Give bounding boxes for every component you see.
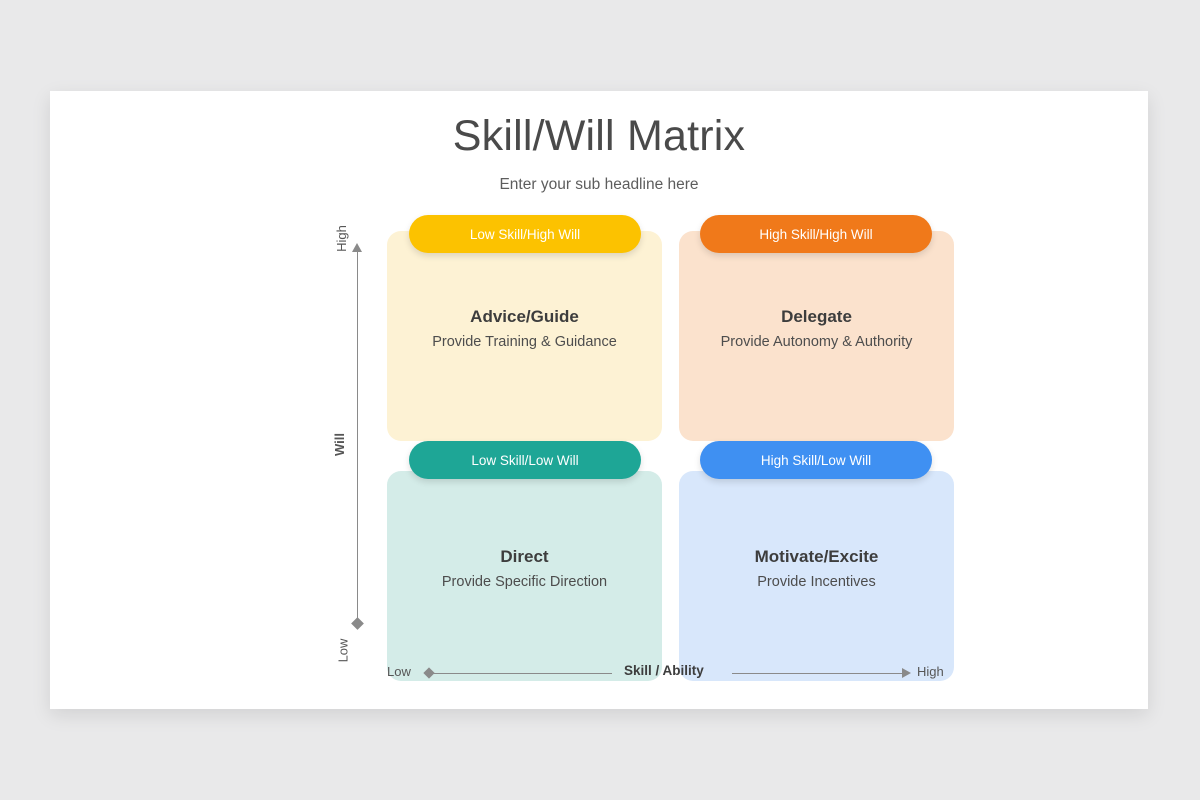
quadrant-motivate-excite[interactable]: Motivate/Excite Provide Incentives [679,471,954,681]
skill-will-matrix: High Will Low Advice/Guide Provide Train… [337,215,954,675]
quadrant-grid: Advice/Guide Provide Training & Guidance… [387,215,954,656]
quadrant-description: Provide Incentives [687,574,946,590]
horizontal-axis-line-left [432,673,612,674]
quadrant-direct[interactable]: Direct Provide Specific Direction [387,471,662,681]
quadrant-pill-low-skill-low-will[interactable]: Low Skill/Low Will [409,441,641,479]
quadrant-advice-guide[interactable]: Advice/Guide Provide Training & Guidance [387,231,662,441]
vertical-axis-line [357,251,358,625]
quadrant-title: Advice/Guide [395,307,654,327]
horizontal-axis-high-label: High [917,664,944,679]
quadrant-body: Delegate Provide Autonomy & Authority [679,307,954,350]
diamond-marker-icon [351,617,364,630]
quadrant-pill-low-skill-high-will[interactable]: Low Skill/High Will [409,215,641,253]
heading-block: Skill/Will Matrix Enter your sub headlin… [50,113,1148,194]
quadrant-delegate[interactable]: Delegate Provide Autonomy & Authority [679,231,954,441]
horizontal-axis-low-label: Low [387,664,411,679]
page-title: Skill/Will Matrix [50,113,1148,160]
horizontal-axis-title: Skill / Ability [624,663,704,678]
slide-canvas: Skill/Will Matrix Enter your sub headlin… [50,91,1148,709]
arrow-right-icon [902,668,911,678]
quadrant-body: Motivate/Excite Provide Incentives [679,547,954,590]
quadrant-pill-high-skill-high-will[interactable]: High Skill/High Will [700,215,932,253]
vertical-axis-low-label: Low [335,639,350,663]
quadrant-body: Direct Provide Specific Direction [387,547,662,590]
vertical-axis-title: Will [332,433,347,456]
vertical-axis-will: High Will Low [337,215,377,656]
quadrant-description: Provide Training & Guidance [395,334,654,350]
horizontal-axis-line-right [732,673,904,674]
quadrant-title: Motivate/Excite [687,547,946,567]
quadrant-description: Provide Autonomy & Authority [687,334,946,350]
page-subtitle: Enter your sub headline here [50,176,1148,194]
vertical-axis-high-label: High [334,225,349,252]
quadrant-title: Direct [395,547,654,567]
horizontal-axis-skill-ability: Low Skill / Ability High [387,661,954,691]
quadrant-pill-high-skill-low-will[interactable]: High Skill/Low Will [700,441,932,479]
quadrant-body: Advice/Guide Provide Training & Guidance [387,307,662,350]
quadrant-title: Delegate [687,307,946,327]
quadrant-description: Provide Specific Direction [395,574,654,590]
